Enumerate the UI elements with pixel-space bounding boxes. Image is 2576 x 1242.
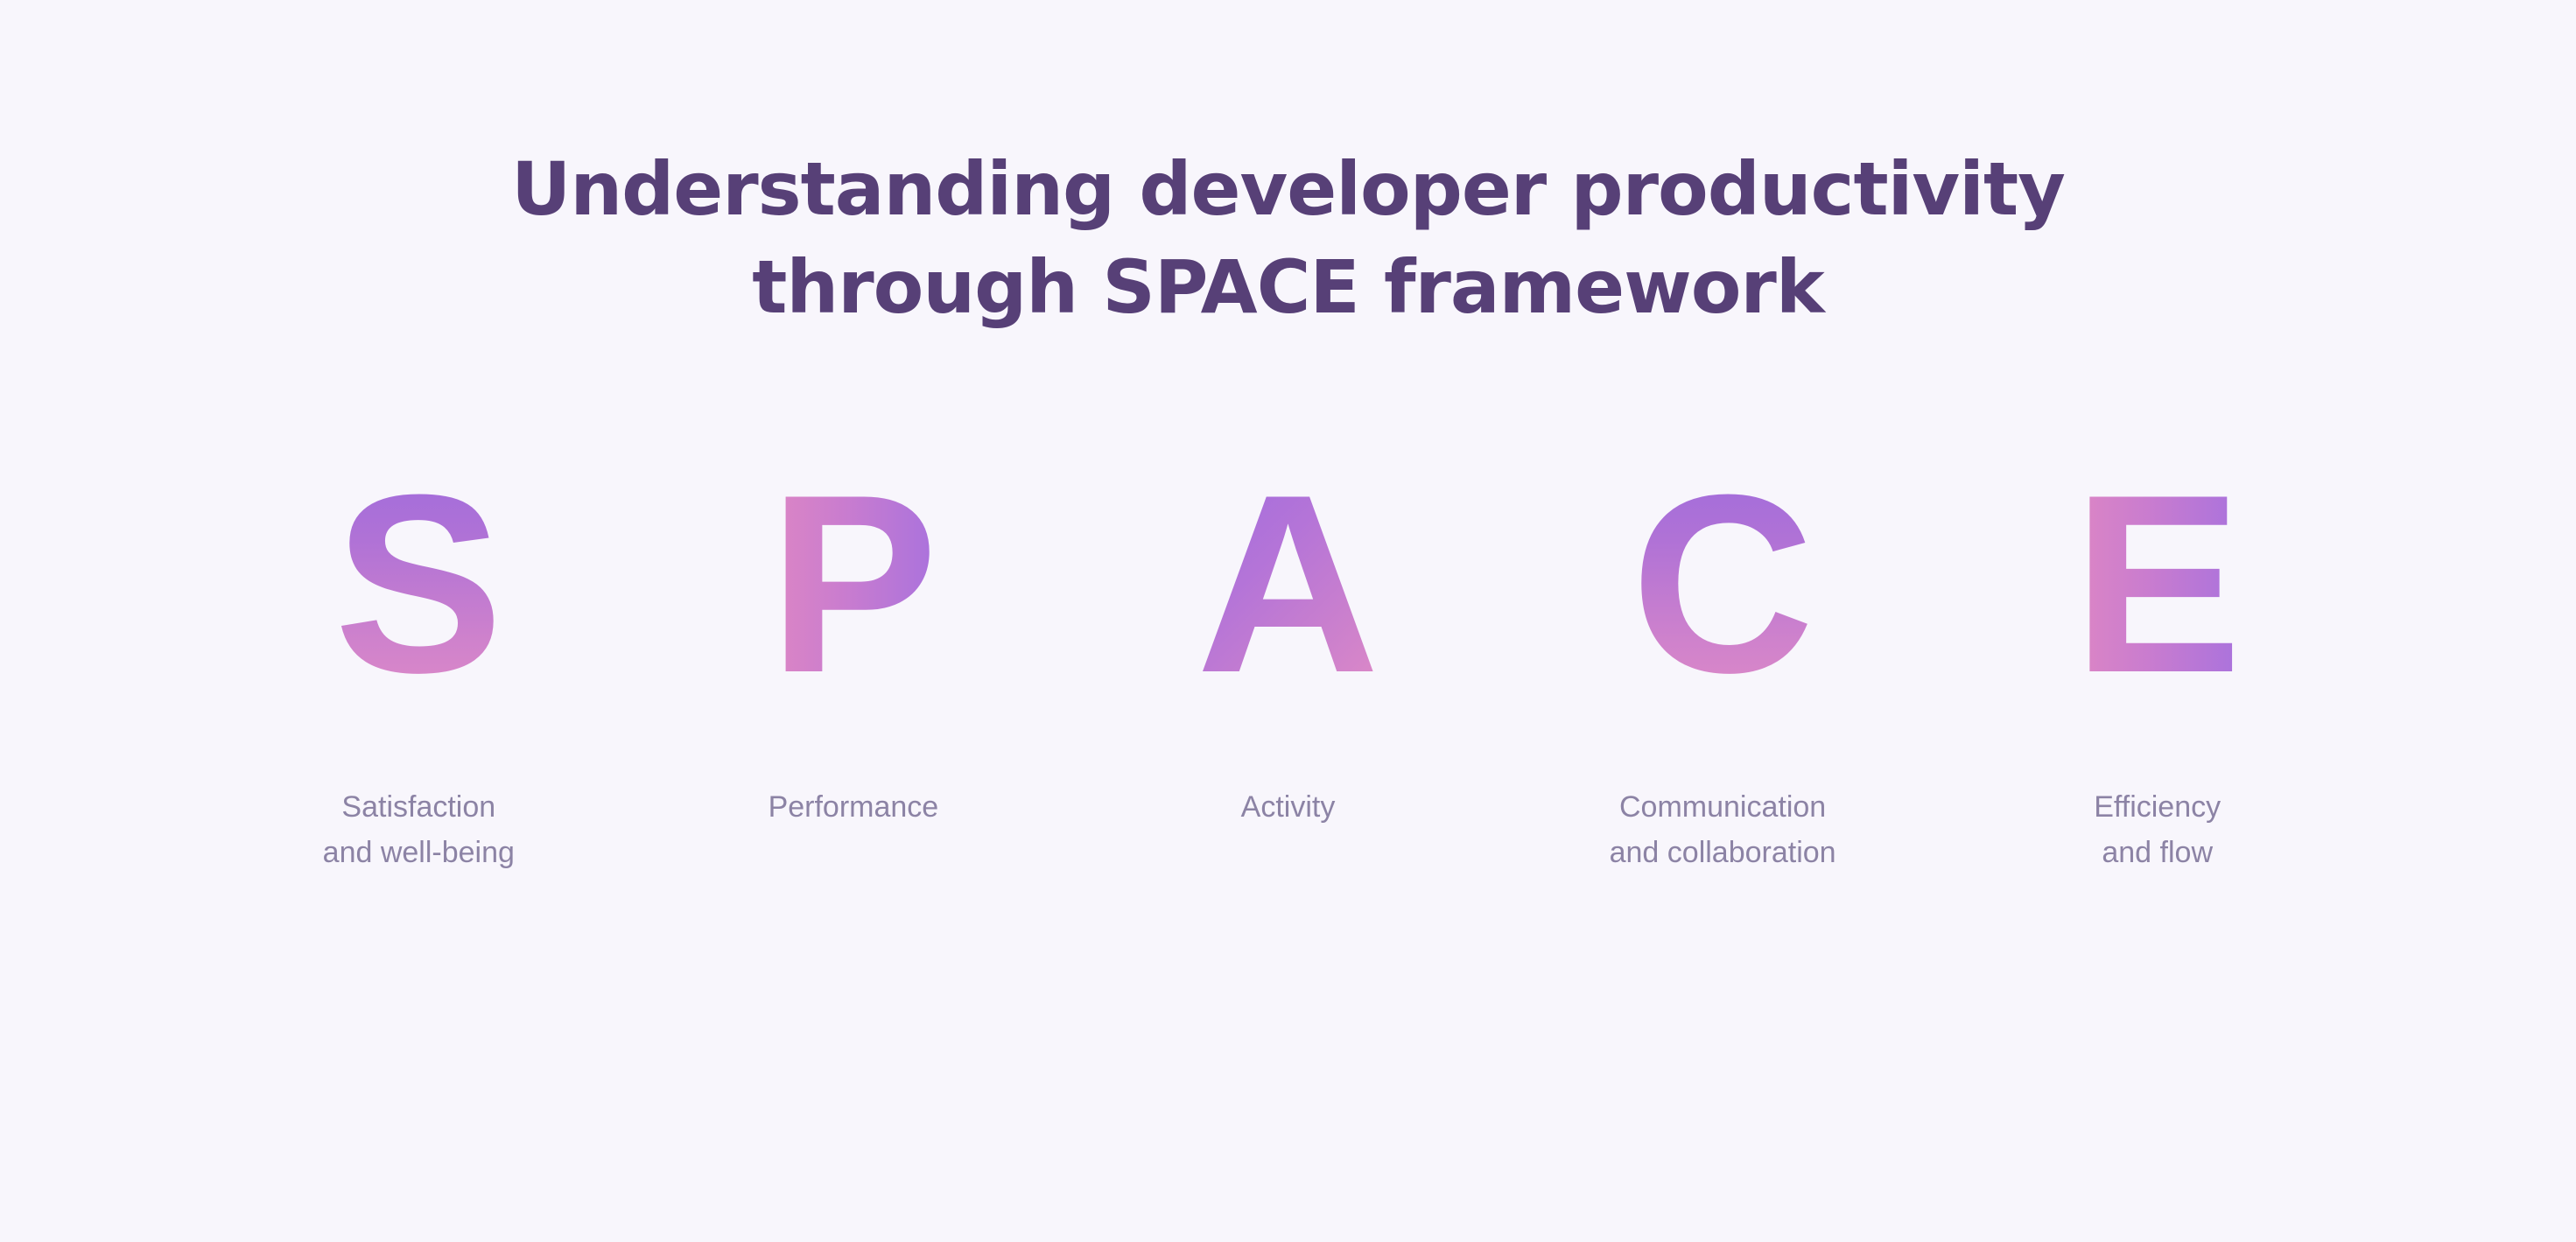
caption-line-2: and flow — [2094, 830, 2221, 875]
space-caption-efficiency: Efficiency and flow — [2094, 784, 2221, 875]
space-item-performance: P Performance — [636, 439, 1071, 830]
space-item-satisfaction: S Satisfaction and well-being — [201, 439, 636, 875]
page-title: Understanding developer productivity thr… — [0, 140, 2576, 336]
caption-line-2: and well-being — [323, 830, 515, 875]
caption-line-1: Communication — [1610, 784, 1836, 830]
space-letter-s: S — [334, 439, 503, 728]
space-caption-communication: Communication and collaboration — [1610, 784, 1836, 875]
caption-line-1: Performance — [769, 784, 939, 830]
space-framework-poster: Understanding developer productivity thr… — [0, 0, 2576, 1242]
page-title-line-1: Understanding developer productivity — [0, 140, 2576, 238]
space-letter-p: P — [769, 439, 937, 728]
page-title-line-2: through SPACE framework — [0, 238, 2576, 336]
space-letters-row: S Satisfaction and well-being P Performa… — [0, 439, 2576, 875]
space-letter-e: E — [2073, 439, 2242, 728]
space-item-communication: C Communication and collaboration — [1506, 439, 1941, 875]
caption-line-1: Activity — [1241, 784, 1336, 830]
caption-line-2: and collaboration — [1610, 830, 1836, 875]
space-letter-a: A — [1197, 439, 1379, 728]
space-caption-satisfaction: Satisfaction and well-being — [323, 784, 515, 875]
space-letter-c: C — [1631, 439, 1814, 728]
space-caption-performance: Performance — [769, 784, 939, 830]
caption-line-1: Efficiency — [2094, 784, 2221, 830]
caption-line-1: Satisfaction — [323, 784, 515, 830]
space-item-efficiency: E Efficiency and flow — [1940, 439, 2375, 875]
space-caption-activity: Activity — [1241, 784, 1336, 830]
space-item-activity: A Activity — [1070, 439, 1506, 830]
